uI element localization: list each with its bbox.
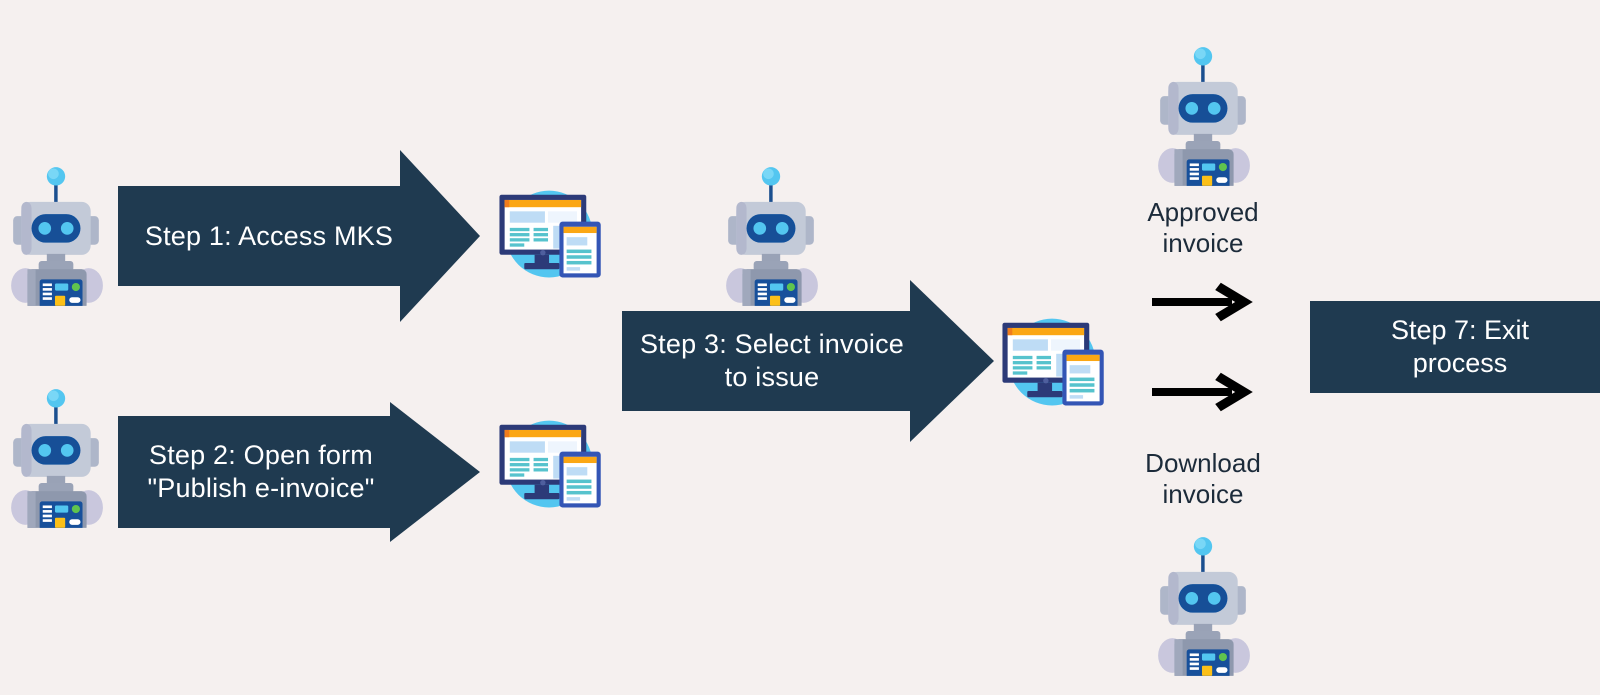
- responsive-screens-icon-step1: [485, 180, 609, 284]
- step-7-box[interactable]: Step 7: Exit process: [1310, 301, 1600, 393]
- robot-icon-step1: [5, 163, 107, 306]
- arrow-right-icon-approved: [1138, 278, 1270, 326]
- step-1-arrow[interactable]: Step 1: Access MKS: [118, 150, 480, 322]
- robot-icon-approved: [1152, 43, 1254, 186]
- branch-approved-label: Approved invoice: [1118, 197, 1288, 259]
- step-3-arrow[interactable]: Step 3: Select invoice to issue: [622, 280, 994, 442]
- responsive-screens-icon-step3: [988, 308, 1112, 412]
- responsive-screens-icon-step2: [485, 410, 609, 514]
- arrow-right-icon-download: [1138, 368, 1270, 416]
- step-2-arrow[interactable]: Step 2: Open form "Publish e-invoice": [118, 402, 480, 542]
- robot-icon-step2: [5, 385, 107, 528]
- branch-download-label: Download invoice: [1118, 448, 1288, 510]
- robot-icon-download: [1152, 533, 1254, 676]
- step-7-label: Step 7: Exit process: [1391, 314, 1529, 380]
- diagram-canvas: Step 1: Access MKS Step 2: Open form "Pu…: [0, 0, 1600, 695]
